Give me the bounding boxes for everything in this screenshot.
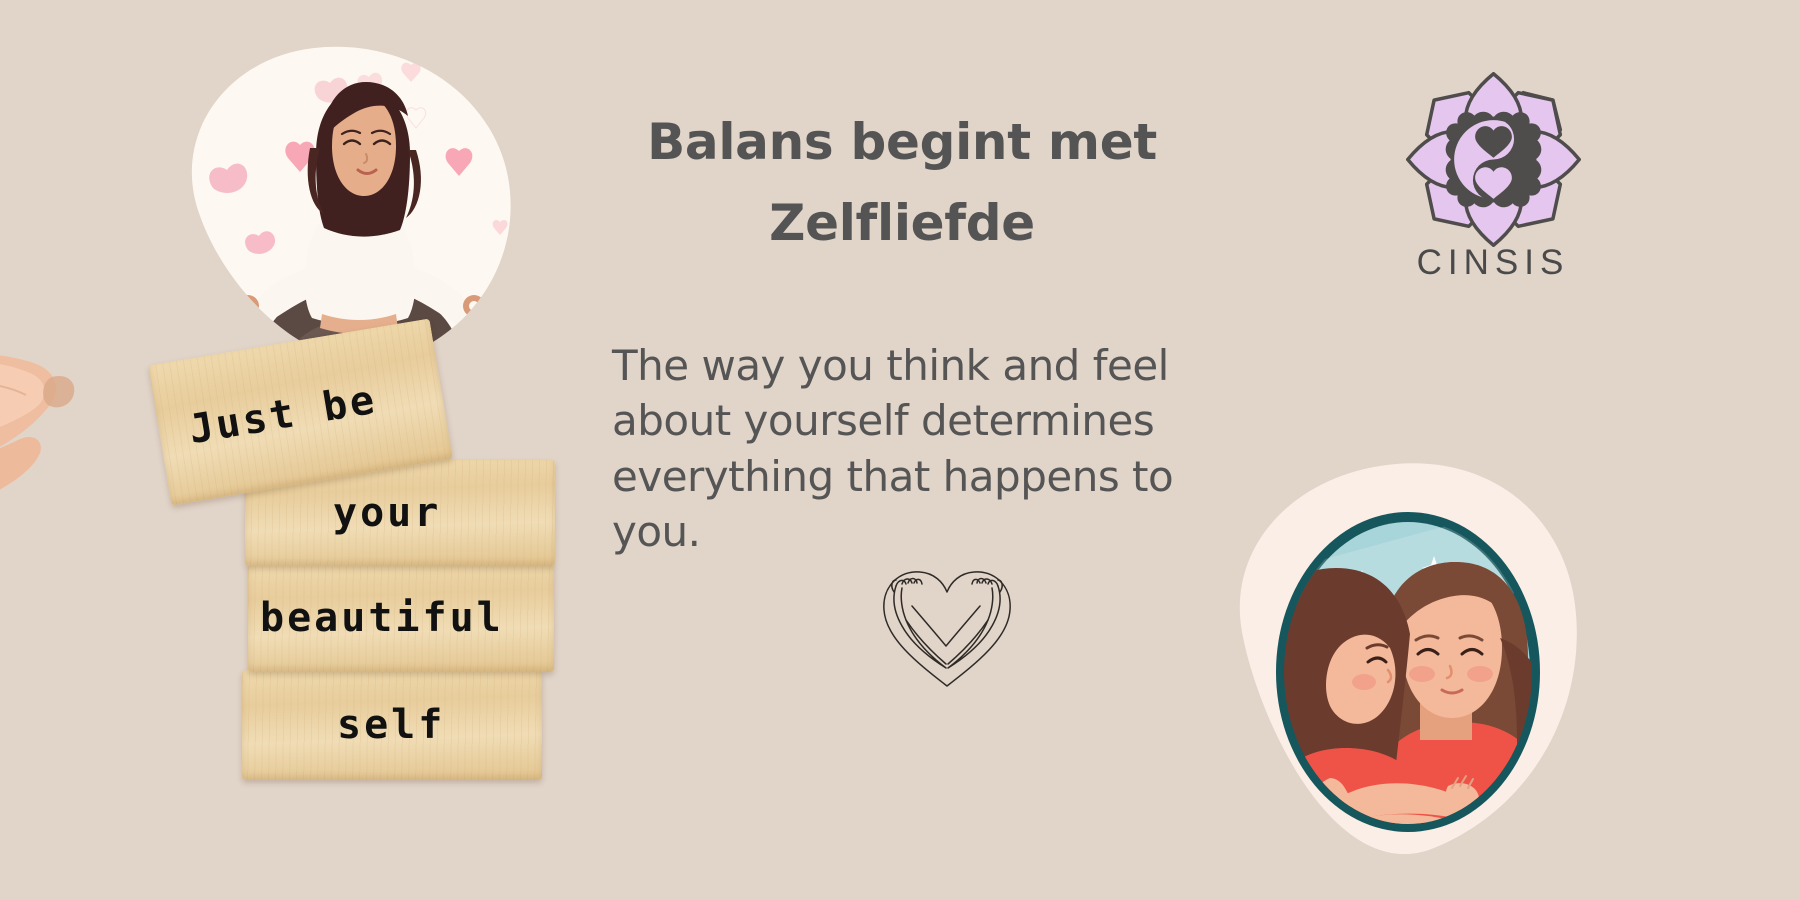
brand-logo: CINSIS bbox=[1383, 72, 1603, 292]
yin-yang-icon bbox=[1452, 118, 1534, 200]
wooden-block-3-text: beautiful bbox=[260, 595, 504, 641]
headline-line-2: Zelfliefde bbox=[612, 183, 1192, 264]
wooden-block-4: self bbox=[242, 670, 542, 780]
heart-hug-icon bbox=[872, 558, 1022, 693]
holding-hand bbox=[0, 323, 160, 543]
mandala-yin-yang-heart-icon bbox=[1406, 72, 1581, 247]
wooden-block-2-text: your bbox=[333, 490, 441, 536]
wooden-block-3: beautiful bbox=[248, 564, 554, 672]
wooden-block-1-text: Just be bbox=[186, 377, 381, 454]
wooden-blocks-photo: Just be your beautiful self bbox=[0, 305, 570, 900]
body-copy: The way you think and feel about yoursel… bbox=[612, 338, 1232, 560]
mirror-self-hug-illustration bbox=[1212, 448, 1592, 900]
page-title: Balans begint met Zelfliefde bbox=[612, 102, 1192, 264]
headline-line-1: Balans begint met bbox=[612, 102, 1192, 183]
wooden-block-4-text: self bbox=[337, 702, 445, 748]
banner-canvas: Just be your beautiful self Balans begin… bbox=[0, 0, 1800, 900]
logo-wordmark: CINSIS bbox=[1383, 243, 1603, 283]
